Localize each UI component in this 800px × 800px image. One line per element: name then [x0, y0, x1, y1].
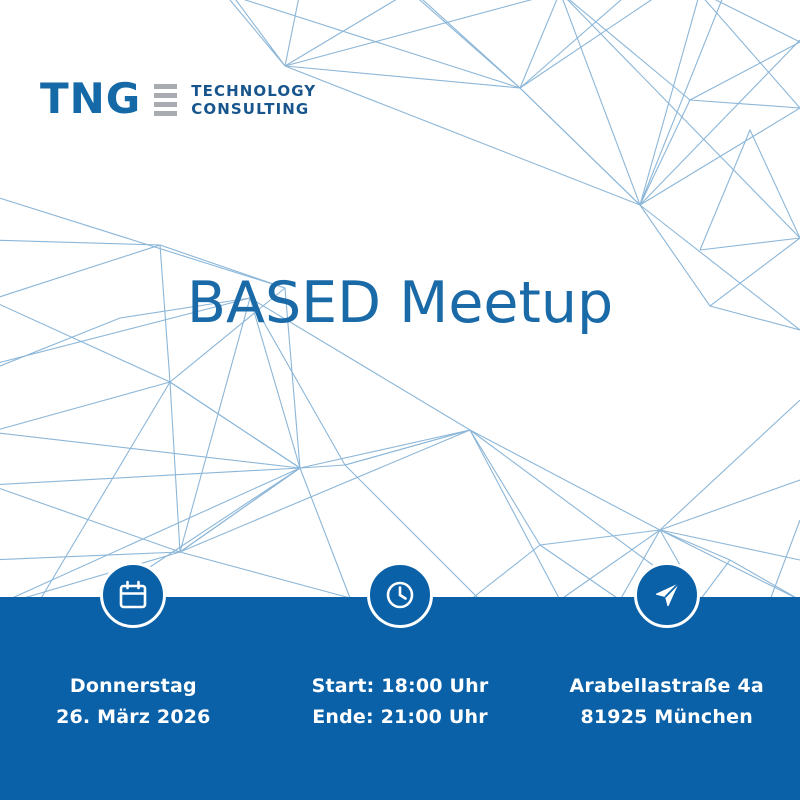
event-details: Donnerstag 26. März 2026 Start: 18:00 Uh… [0, 555, 800, 800]
event-detail-time: Start: 18:00 Uhr Ende: 21:00 Uhr [267, 555, 534, 800]
date-text: Donnerstag 26. März 2026 [56, 671, 211, 734]
event-detail-location: Arabellastraße 4a 81925 München [533, 555, 800, 800]
location-line-2: 81925 München [569, 702, 763, 733]
navigation-arrow-icon [634, 562, 700, 628]
date-line-2: 26. März 2026 [56, 702, 211, 733]
page-title: BASED Meetup [0, 272, 800, 335]
logo-tagline-line1: TECHNOLOGY [191, 84, 316, 99]
logo-wordmark: TNG [40, 78, 141, 120]
tng-logo: TNG TECHNOLOGY CONSULTING [40, 70, 316, 128]
event-detail-date: Donnerstag 26. März 2026 [0, 555, 267, 800]
calendar-icon [100, 562, 166, 628]
location-text: Arabellastraße 4a 81925 München [569, 671, 763, 734]
logo-tagline-line2: CONSULTING [191, 102, 316, 117]
time-line-1: Start: 18:00 Uhr [312, 671, 489, 702]
event-poster: TNG TECHNOLOGY CONSULTING BASED Meetup D… [0, 0, 800, 800]
date-line-1: Donnerstag [56, 671, 211, 702]
clock-icon [367, 562, 433, 628]
time-line-2: Ende: 21:00 Uhr [312, 702, 489, 733]
logo-tagline: TECHNOLOGY CONSULTING [191, 82, 316, 117]
time-text: Start: 18:00 Uhr Ende: 21:00 Uhr [312, 671, 489, 734]
location-line-1: Arabellastraße 4a [569, 671, 763, 702]
logo-bars-icon [154, 82, 177, 116]
